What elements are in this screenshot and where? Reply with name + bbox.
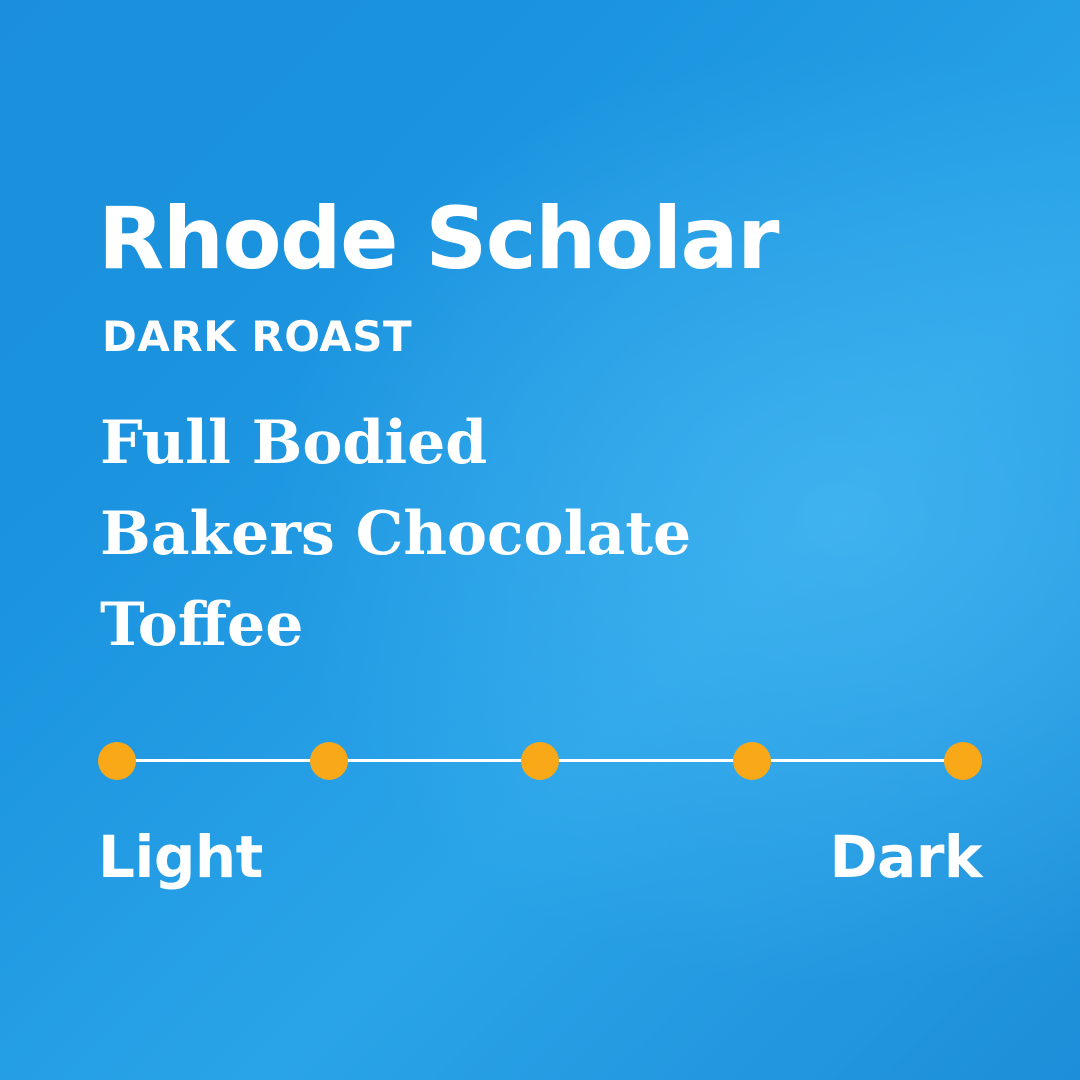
roast-dot-2-icon [310,742,348,780]
roast-type-label: DARK ROAST [102,316,412,358]
roast-dot-1-icon [98,742,136,780]
tasting-note-2: Bakers Chocolate [100,489,691,580]
tasting-notes-list: Full Bodied Bakers Chocolate Toffee [100,398,691,672]
tasting-note-1: Full Bodied [100,398,691,489]
roast-scale-dots [98,740,982,782]
tasting-note-3: Toffee [100,580,691,671]
roast-dot-4-icon [733,742,771,780]
roast-scale-label-light: Light [98,828,263,886]
product-card: Rhode Scholar DARK ROAST Full Bodied Bak… [0,0,1080,1080]
roast-dot-3-icon [521,742,559,780]
roast-scale [98,740,982,782]
page-title: Rhode Scholar [98,196,778,282]
roast-scale-labels: Light Dark [98,828,982,886]
roast-scale-label-dark: Dark [830,828,982,886]
roast-dot-5-icon [944,742,982,780]
